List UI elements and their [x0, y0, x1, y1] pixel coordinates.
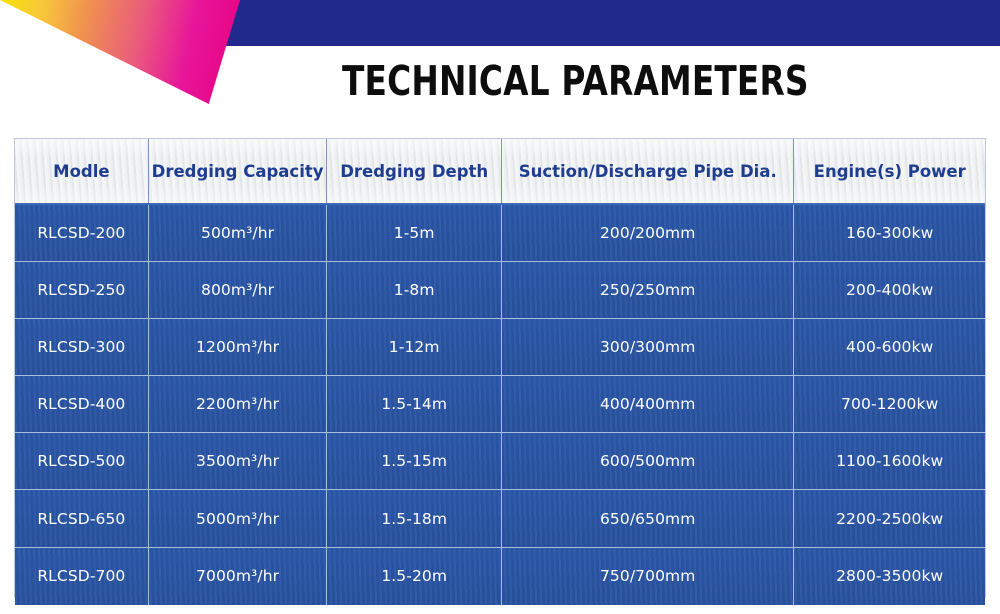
cell-capacity: 7000m³/hr: [149, 548, 328, 605]
cell-power: 400-600kw: [794, 319, 985, 375]
cell-model-value: RLCSD-300: [37, 338, 125, 356]
cell-pipe-value: 200/200mm: [600, 224, 696, 242]
cell-depth: 1.5-14m: [327, 376, 502, 432]
cell-power-value: 400-600kw: [846, 338, 933, 356]
cell-capacity: 5000m³/hr: [149, 490, 328, 546]
cell-power-value: 2800-3500kw: [836, 567, 943, 585]
cell-depth-value: 1.5-18m: [381, 510, 447, 528]
cell-depth-value: 1.5-14m: [381, 395, 447, 413]
column-header-dredging-depth-label: Dredging Depth: [340, 162, 488, 181]
column-header-model-label: Modle: [53, 162, 109, 181]
cell-capacity: 800m³/hr: [149, 262, 328, 318]
cell-power: 2800-3500kw: [794, 548, 985, 605]
cell-pipe-value: 750/700mm: [600, 567, 696, 585]
cell-pipe: 200/200mm: [502, 205, 794, 261]
cell-pipe-value: 300/300mm: [600, 338, 696, 356]
cell-capacity-value: 800m³/hr: [201, 281, 274, 299]
cell-power: 2200-2500kw: [794, 490, 985, 546]
cell-depth-value: 1-5m: [394, 224, 435, 242]
cell-capacity: 2200m³/hr: [149, 376, 328, 432]
cell-power-value: 2200-2500kw: [836, 510, 943, 528]
cell-model: RLCSD-250: [15, 262, 149, 318]
cell-power-value: 160-300kw: [846, 224, 933, 242]
cell-model: RLCSD-300: [15, 319, 149, 375]
cell-model: RLCSD-400: [15, 376, 149, 432]
cell-depth: 1-5m: [327, 205, 502, 261]
cell-pipe: 650/650mm: [502, 490, 794, 546]
cell-model-value: RLCSD-500: [37, 452, 125, 470]
cell-pipe: 250/250mm: [502, 262, 794, 318]
table-row: RLCSD-700 7000m³/hr 1.5-20m 750/700mm 28…: [15, 548, 985, 605]
cell-power: 1100-1600kw: [794, 433, 985, 489]
column-header-model: Modle: [15, 139, 149, 203]
cell-capacity-value: 5000m³/hr: [196, 510, 279, 528]
cell-pipe-value: 600/500mm: [600, 452, 696, 470]
cell-capacity: 500m³/hr: [149, 205, 328, 261]
cell-model-value: RLCSD-250: [37, 281, 125, 299]
cell-capacity: 3500m³/hr: [149, 433, 328, 489]
cell-power: 200-400kw: [794, 262, 985, 318]
cell-model-value: RLCSD-700: [37, 567, 125, 585]
cell-depth: 1.5-18m: [327, 490, 502, 546]
cell-power-value: 200-400kw: [846, 281, 933, 299]
cell-depth-value: 1-12m: [389, 338, 440, 356]
cell-power: 160-300kw: [794, 205, 985, 261]
cell-power-value: 1100-1600kw: [836, 452, 943, 470]
cell-model-value: RLCSD-400: [37, 395, 125, 413]
cell-pipe-value: 250/250mm: [600, 281, 696, 299]
cell-depth-value: 1.5-20m: [381, 567, 447, 585]
technical-parameters-table: Modle Dredging Capacity Dredging Depth S…: [14, 138, 986, 598]
table-row: RLCSD-400 2200m³/hr 1.5-14m 400/400mm 70…: [15, 376, 985, 433]
page-title: TECHNICAL PARAMETERS: [342, 58, 758, 104]
table-header-row: Modle Dredging Capacity Dredging Depth S…: [15, 139, 985, 205]
cell-power-value: 700-1200kw: [841, 395, 938, 413]
column-header-suction-discharge-pipe-dia: Suction/Discharge Pipe Dia.: [502, 139, 794, 203]
cell-pipe: 300/300mm: [502, 319, 794, 375]
cell-model: RLCSD-700: [15, 548, 149, 605]
column-header-dredging-depth: Dredging Depth: [327, 139, 502, 203]
cell-depth: 1.5-15m: [327, 433, 502, 489]
cell-depth: 1-8m: [327, 262, 502, 318]
cell-depth: 1-12m: [327, 319, 502, 375]
cell-pipe: 750/700mm: [502, 548, 794, 605]
cell-capacity-value: 3500m³/hr: [196, 452, 279, 470]
cell-capacity-value: 500m³/hr: [201, 224, 274, 242]
cell-model-value: RLCSD-200: [37, 224, 125, 242]
cell-pipe-value: 650/650mm: [600, 510, 696, 528]
cell-capacity-value: 2200m³/hr: [196, 395, 279, 413]
cell-depth-value: 1-8m: [394, 281, 435, 299]
cell-pipe-value: 400/400mm: [600, 395, 696, 413]
cell-model: RLCSD-650: [15, 490, 149, 546]
cell-model: RLCSD-500: [15, 433, 149, 489]
cell-model: RLCSD-200: [15, 205, 149, 261]
table-row: RLCSD-250 800m³/hr 1-8m 250/250mm 200-40…: [15, 262, 985, 319]
cell-capacity-value: 7000m³/hr: [196, 567, 279, 585]
table-row: RLCSD-200 500m³/hr 1-5m 200/200mm 160-30…: [15, 205, 985, 262]
column-header-engines-power: Engine(s) Power: [794, 139, 985, 203]
cell-model-value: RLCSD-650: [37, 510, 125, 528]
cell-capacity: 1200m³/hr: [149, 319, 328, 375]
cell-capacity-value: 1200m³/hr: [196, 338, 279, 356]
cell-power: 700-1200kw: [794, 376, 985, 432]
column-header-suction-discharge-pipe-dia-label: Suction/Discharge Pipe Dia.: [519, 162, 777, 181]
decorative-blue-band: [222, 0, 1000, 46]
table-row: RLCSD-300 1200m³/hr 1-12m 300/300mm 400-…: [15, 319, 985, 376]
column-header-dredging-capacity: Dredging Capacity: [149, 139, 328, 203]
cell-pipe: 400/400mm: [502, 376, 794, 432]
table-row: RLCSD-500 3500m³/hr 1.5-15m 600/500mm 11…: [15, 433, 985, 490]
table-row: RLCSD-650 5000m³/hr 1.5-18m 650/650mm 22…: [15, 490, 985, 547]
column-header-dredging-capacity-label: Dredging Capacity: [152, 162, 324, 181]
decorative-gradient-triangle: [0, 0, 240, 104]
cell-depth: 1.5-20m: [327, 548, 502, 605]
cell-pipe: 600/500mm: [502, 433, 794, 489]
cell-depth-value: 1.5-15m: [381, 452, 447, 470]
column-header-engines-power-label: Engine(s) Power: [814, 162, 966, 181]
page-root: TECHNICAL PARAMETERS Modle Dredging Capa…: [0, 0, 1000, 614]
